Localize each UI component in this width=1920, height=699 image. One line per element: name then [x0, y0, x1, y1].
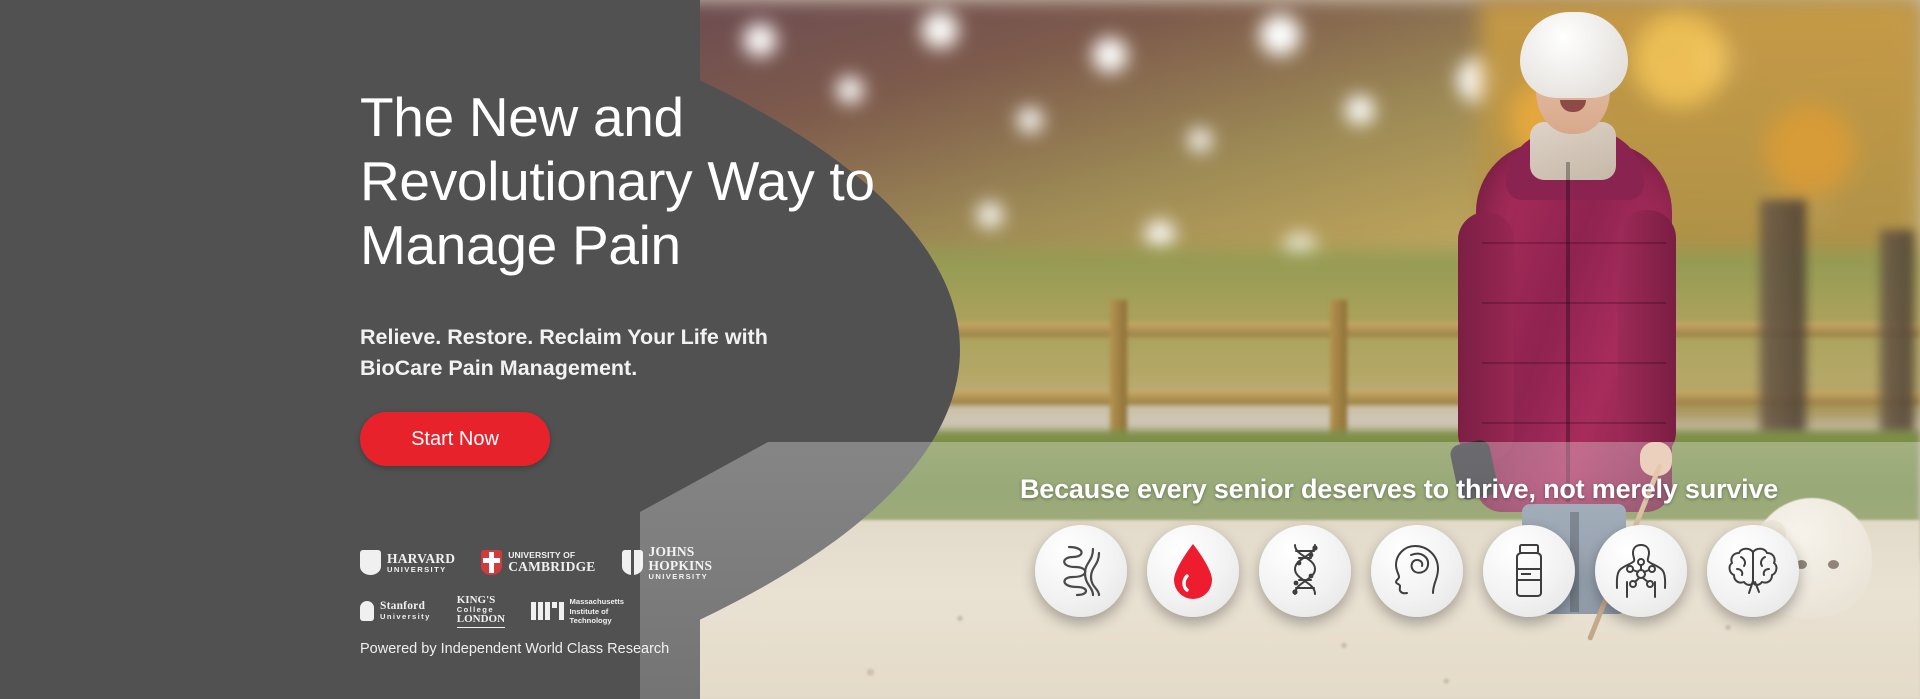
supplement-bottle-icon [1508, 543, 1550, 599]
icon-badge-intestine[interactable] [1035, 525, 1127, 617]
logo-line-2: Institute of [570, 607, 609, 616]
icon-badge-blood-drop[interactable] [1147, 525, 1239, 617]
icon-badge-brain[interactable] [1707, 525, 1799, 617]
hero-banner: The New and Revolutionary Way to Manage … [0, 0, 1920, 699]
logo-line-3: LONDON [457, 614, 505, 625]
head-profile-icon [1389, 543, 1445, 599]
logo-stanford: Stanford University [360, 601, 431, 621]
icon-badge-supplement-bottle[interactable] [1483, 525, 1575, 617]
hero-subheadline: Relieve. Restore. Reclaim Your Life with… [360, 322, 830, 383]
powered-by-text: Powered by Independent World Class Resea… [360, 641, 669, 657]
logo-line-1: HARVARD [387, 552, 455, 566]
icon-badge-head-profile[interactable] [1371, 525, 1463, 617]
logo-cambridge: UNIVERSITY OF CAMBRIDGE [481, 550, 595, 575]
logo-kings-college-london: KING'S College LONDON [457, 595, 505, 628]
start-now-button[interactable]: Start Now [360, 412, 550, 466]
blood-drop-icon [1170, 542, 1216, 600]
logo-line-2: UNIVERSITY [387, 566, 455, 574]
logo-mit: Massachusetts Institute of Technology [531, 597, 624, 625]
hero-tagline: Because every senior deserves to thrive,… [1020, 474, 1900, 505]
intestine-icon [1055, 543, 1107, 599]
icon-badge-torso-molecule[interactable] [1595, 525, 1687, 617]
logo-line-3: Technology [570, 616, 612, 625]
logo-line-2: CAMBRIDGE [508, 560, 595, 574]
health-icon-row [1035, 525, 1799, 617]
dna-helix-icon [1282, 542, 1328, 600]
stanford-tree-icon [360, 601, 374, 621]
harvard-crest-icon [360, 550, 381, 575]
page-title: The New and Revolutionary Way to Manage … [360, 86, 880, 277]
logo-line-2: University [380, 613, 431, 621]
cambridge-crest-icon [481, 550, 502, 575]
mit-bars-icon [531, 602, 564, 620]
logo-harvard: HARVARD UNIVERSITY [360, 550, 455, 575]
brain-icon [1725, 545, 1781, 597]
johns-hopkins-shield-icon [622, 550, 643, 575]
icon-badge-dna[interactable] [1259, 525, 1351, 617]
torso-molecule-icon [1613, 542, 1669, 600]
logo-line-1: Massachusetts [570, 597, 624, 606]
